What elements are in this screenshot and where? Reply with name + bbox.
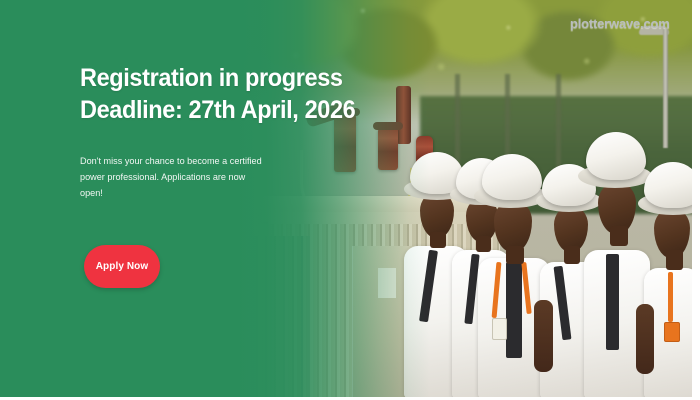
- right-edge-border: [692, 0, 700, 400]
- promotional-banner: Registration in progress Deadline: 27th …: [0, 0, 700, 400]
- banner-content: Registration in progress Deadline: 27th …: [80, 0, 380, 397]
- page-title: Registration in progress Deadline: 27th …: [80, 62, 362, 126]
- banner-subcopy: Don't miss your chance to become a certi…: [80, 154, 268, 202]
- site-watermark: plotterwave.com: [570, 16, 670, 31]
- street-lamp-pole: [663, 28, 668, 148]
- headline-line-1: Registration in progress: [80, 62, 362, 94]
- apply-now-button[interactable]: Apply Now: [84, 245, 160, 288]
- headline-line-2: Deadline: 27th April, 2026: [80, 94, 362, 126]
